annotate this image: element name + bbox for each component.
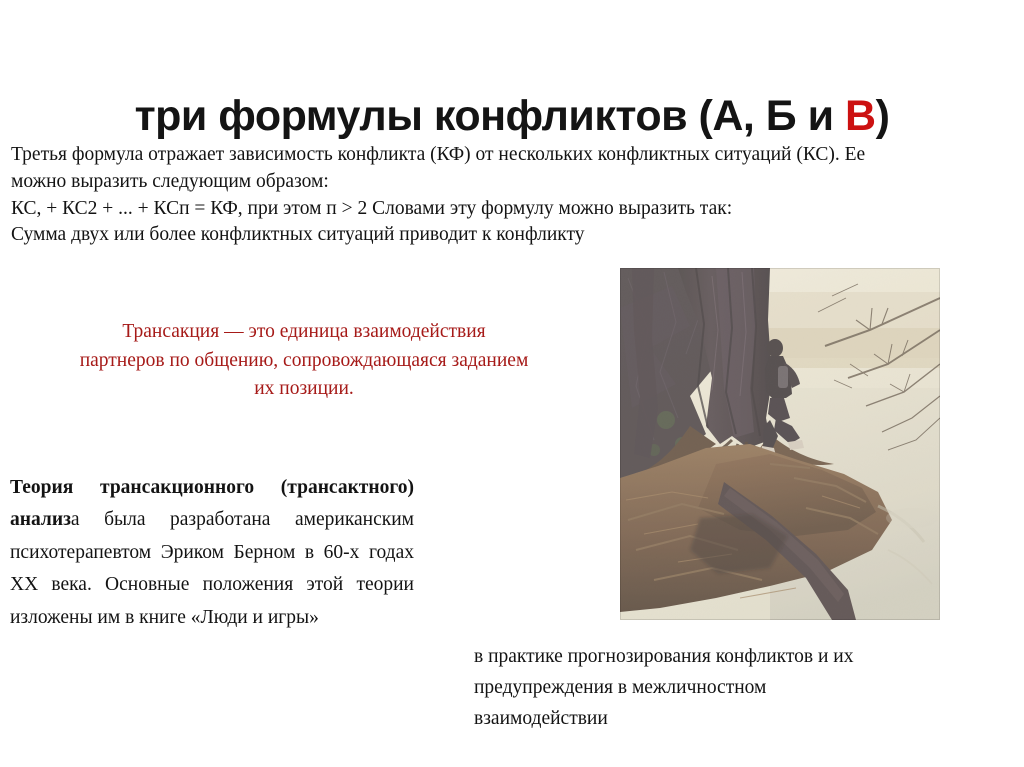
page-title-prefix: три формулы конфликтов (А, Б и <box>135 92 845 140</box>
definition-line-1: Трансакция — это единица взаимодействия <box>8 318 600 347</box>
intro-line-2: можно выразить следующим образом: <box>11 169 1013 196</box>
intro-line-1: Третья формула отражает зависимость конф… <box>11 142 1013 169</box>
definition-line-3: их позиции. <box>8 375 600 404</box>
definition-line-2: партнеров по общению, сопровождающаяся з… <box>8 347 600 376</box>
intro-line-3-formula: КС, + КС2 + ... + КСп = КФ, при этом п >… <box>11 196 1013 223</box>
theory-paragraph: Теория трансакционного (трансактного) ан… <box>10 472 414 635</box>
caption-line-1: в практике прогнозирования конфликтов и … <box>474 641 994 672</box>
theory-paragraph-rest: а была разработана американским психотер… <box>10 509 414 628</box>
intro-line-4: Сумма двух или более конфликтных ситуаци… <box>11 222 1013 249</box>
page-title-suffix: ) <box>876 92 890 140</box>
definition-transaction: Трансакция — это единица взаимодействия … <box>8 318 600 404</box>
intro-text-block: Третья формула отражает зависимость конф… <box>11 142 1013 249</box>
photo-caption: в практике прогнозирования конфликтов и … <box>474 641 994 734</box>
page-title-accent-letter: В <box>845 92 876 140</box>
slide-canvas: три формулы конфликтов (А, Б и В) Третья… <box>0 0 1024 767</box>
page-title: три формулы конфликтов (А, Б и В) <box>0 91 1024 141</box>
photo-tree-eroded-bank <box>620 268 940 620</box>
caption-line-2: предупреждения в межличностном <box>474 672 994 703</box>
photo-illustration <box>620 268 940 620</box>
caption-line-3: взаимодействии <box>474 703 994 734</box>
